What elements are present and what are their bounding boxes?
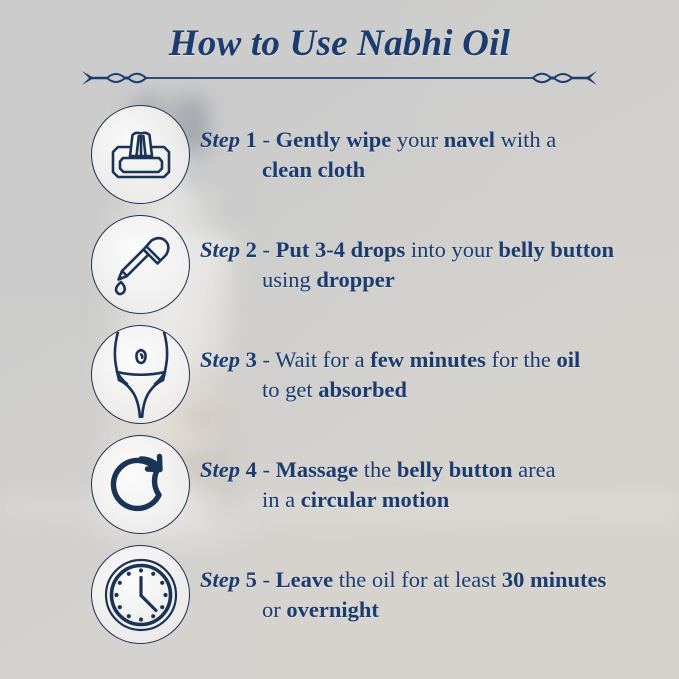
step-number: 1 xyxy=(246,127,257,152)
emphasis-text: dropper xyxy=(316,267,394,292)
divider-ornament-icon xyxy=(82,66,597,90)
step-row: Step 4 - Massage the belly button areain… xyxy=(0,430,679,540)
step-text-line2: to get absorbed xyxy=(200,375,670,405)
step-number: 3 xyxy=(246,347,257,372)
step-dash: - xyxy=(257,237,276,262)
emphasis-text: navel xyxy=(444,127,495,152)
step-number: 2 xyxy=(246,237,257,262)
emphasis-text: belly button xyxy=(397,457,513,482)
plain-text: area xyxy=(513,457,556,482)
step-text-line2: using dropper xyxy=(200,265,670,295)
step-row: Step 3 - Wait for a few minutes for the … xyxy=(0,320,679,430)
plain-text: into your xyxy=(405,237,498,262)
emphasis-text: overnight xyxy=(286,597,379,622)
emphasis-text: circular motion xyxy=(301,487,450,512)
step-text-line2: clean cloth xyxy=(200,155,670,185)
step-icon-badge xyxy=(91,545,190,644)
step-icon-badge xyxy=(91,435,190,534)
step-label: Step xyxy=(200,567,240,592)
step-label: Step xyxy=(200,237,240,262)
step-dash: - xyxy=(257,567,276,592)
step-label: Step xyxy=(200,127,240,152)
plain-text: or xyxy=(262,597,286,622)
clock-icon xyxy=(104,558,178,632)
step-label: Step xyxy=(200,347,240,372)
step-dash: - xyxy=(257,457,276,482)
header: How to Use Nabhi Oil xyxy=(0,22,679,66)
page-title: How to Use Nabhi Oil xyxy=(0,22,679,66)
plain-text: the xyxy=(358,457,397,482)
step-row: Step 1 - Gently wipe your navel with acl… xyxy=(0,100,679,210)
emphasis-text: belly button xyxy=(498,237,614,262)
emphasis-text: Leave xyxy=(276,567,333,592)
step-text: Step 3 - Wait for a few minutes for the … xyxy=(200,345,670,405)
step-row: Step 2 - Put 3-4 drops into your belly b… xyxy=(0,210,679,320)
emphasis-text: Massage xyxy=(276,457,359,482)
step-dash: - xyxy=(257,127,276,152)
step-icon-badge xyxy=(91,325,190,424)
step-text: Step 5 - Leave the oil for at least 30 m… xyxy=(200,565,670,625)
emphasis-text: few minutes xyxy=(370,347,486,372)
plain-text: using xyxy=(262,267,316,292)
step-dash: - xyxy=(257,347,275,372)
plain-text: the oil for at least xyxy=(333,567,502,592)
infographic-canvas: How to Use Nabhi Oil xyxy=(0,0,679,679)
plain-text: to get xyxy=(262,377,318,402)
step-row: Step 5 - Leave the oil for at least 30 m… xyxy=(0,540,679,650)
plain-text: for the xyxy=(486,347,557,372)
plain-text: Wait for a xyxy=(275,347,370,372)
emphasis-text: 30 minutes xyxy=(502,567,606,592)
step-label: Step xyxy=(200,457,240,482)
emphasis-text: clean cloth xyxy=(262,157,365,182)
belly-torso-icon xyxy=(106,332,176,418)
step-text: Step 2 - Put 3-4 drops into your belly b… xyxy=(200,235,670,295)
step-text-line2: in a circular motion xyxy=(200,485,670,515)
plain-text: with a xyxy=(495,127,556,152)
step-text: Step 4 - Massage the belly button areain… xyxy=(200,455,670,515)
emphasis-text: absorbed xyxy=(318,377,407,402)
circular-arrow-icon xyxy=(109,453,173,517)
step-icon-badge xyxy=(91,105,190,204)
tissue-box-icon xyxy=(110,127,172,183)
steps-list: Step 1 - Gently wipe your navel with acl… xyxy=(0,100,679,650)
ornamental-divider xyxy=(82,66,597,90)
step-number: 4 xyxy=(246,457,257,482)
step-number: 5 xyxy=(246,567,257,592)
dropper-icon xyxy=(110,234,172,296)
step-text-line2: or overnight xyxy=(200,595,670,625)
emphasis-text: Put 3-4 drops xyxy=(276,237,406,262)
emphasis-text: Gently wipe xyxy=(276,127,392,152)
step-icon-badge xyxy=(91,215,190,314)
emphasis-text: oil xyxy=(556,347,580,372)
plain-text: your xyxy=(391,127,444,152)
plain-text: in a xyxy=(262,487,301,512)
step-text: Step 1 - Gently wipe your navel with acl… xyxy=(200,125,670,185)
